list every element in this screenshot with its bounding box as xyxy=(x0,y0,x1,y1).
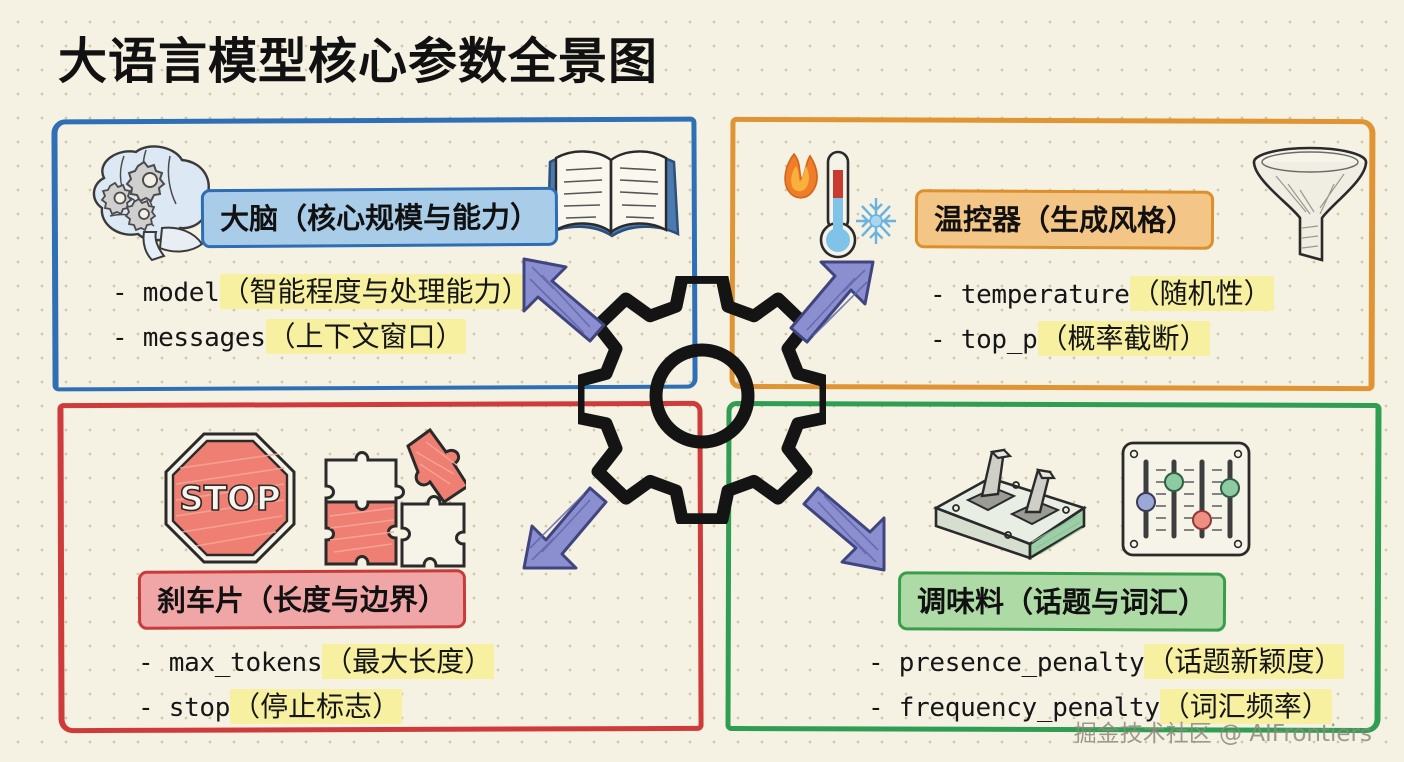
param-desc: （最大长度） xyxy=(322,644,494,679)
watermark: 掘金技术社区 @ AIFrontiers xyxy=(1074,714,1372,748)
param-prefix: - xyxy=(138,693,169,723)
page-title: 大语言模型核心参数全景图 xyxy=(58,22,658,93)
list-item: - messages（上下文窗口） xyxy=(112,320,532,355)
param-key: model xyxy=(143,278,220,308)
param-prefix: - xyxy=(112,323,143,353)
stop-sign-icon: STOP xyxy=(160,428,300,568)
list-item: - presence_penalty（话题新颖度） xyxy=(868,645,1344,680)
pill-brain: 大脑（核心规模与能力） xyxy=(201,187,558,248)
pill-brake: 刹车片（长度与边界） xyxy=(138,569,466,630)
arrow-bottom-right-icon xyxy=(786,474,896,584)
param-key: temperature xyxy=(961,280,1130,310)
infographic-canvas: 大语言模型核心参数全景图 xyxy=(0,0,1404,762)
param-prefix: - xyxy=(930,325,961,355)
param-desc: （概率截断） xyxy=(1038,321,1210,356)
list-item: - max_tokens（最大长度） xyxy=(138,645,494,680)
param-list-thermostat: - temperature（随机性） - top_p（概率截断） xyxy=(930,277,1274,366)
list-item: - temperature（随机性） xyxy=(930,277,1274,312)
arrow-top-right-icon xyxy=(775,248,885,358)
toggle-switch-icon xyxy=(930,434,1090,562)
svg-text:STOP: STOP xyxy=(179,479,281,519)
param-desc: （上下文窗口） xyxy=(266,319,466,354)
param-desc: （话题新颖度） xyxy=(1144,644,1344,679)
param-key: top_p xyxy=(961,325,1038,355)
param-key: max_tokens xyxy=(169,648,323,678)
param-prefix: - xyxy=(930,280,961,310)
param-desc: （智能程度与处理能力） xyxy=(220,274,532,309)
param-desc: （停止标志） xyxy=(230,689,402,724)
param-prefix: - xyxy=(138,648,169,678)
param-list-brake: - max_tokens（最大长度） - stop（停止标志） xyxy=(138,645,494,734)
pill-thermostat: 温控器（生成风格） xyxy=(915,189,1214,250)
param-prefix: - xyxy=(868,693,899,723)
param-key: presence_penalty xyxy=(899,648,1145,678)
open-book-icon xyxy=(538,138,688,256)
list-item: - top_p（概率截断） xyxy=(930,322,1274,357)
param-list-brain: - model（智能程度与处理能力） - messages（上下文窗口） xyxy=(112,275,532,364)
param-desc: （随机性） xyxy=(1130,276,1274,311)
arrow-bottom-left-icon xyxy=(512,472,622,582)
param-key: stop xyxy=(169,693,230,723)
list-item: - model（智能程度与处理能力） xyxy=(112,275,532,310)
funnel-icon xyxy=(1248,140,1386,265)
list-item: - stop（停止标志） xyxy=(138,690,494,725)
pill-seasoning: 调味料（话题与词汇） xyxy=(898,571,1226,631)
param-key: messages xyxy=(143,323,266,353)
param-prefix: - xyxy=(868,648,899,678)
param-prefix: - xyxy=(112,278,143,308)
arrow-top-left-icon xyxy=(512,245,622,355)
slider-mixer-icon xyxy=(1118,438,1254,560)
puzzle-pieces-icon xyxy=(316,424,466,568)
